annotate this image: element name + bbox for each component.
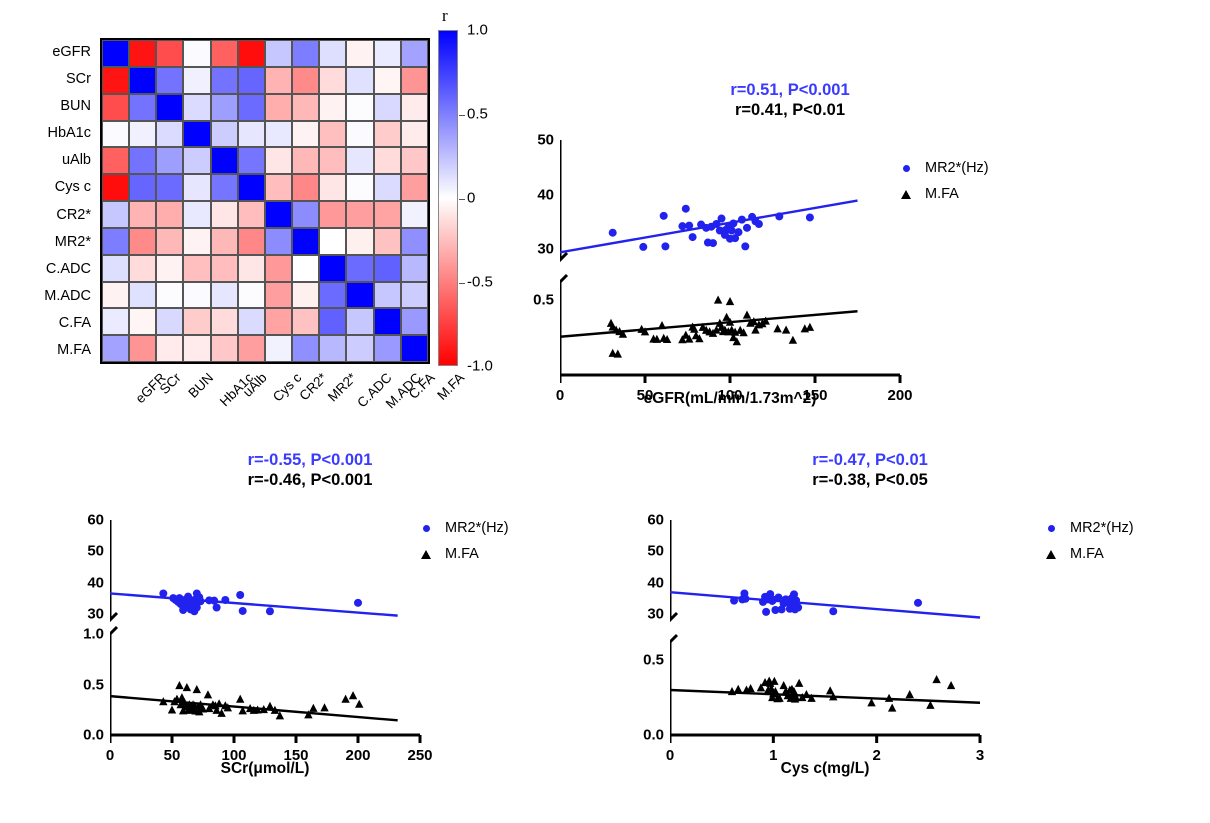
- heatmap-cell: [346, 228, 373, 255]
- heatmap-cell: [129, 147, 156, 174]
- colorbar-tick-label: 0.5: [467, 106, 488, 123]
- colorbar-tick-label: 0: [467, 190, 475, 207]
- heatmap-cell: [211, 255, 238, 282]
- scatter-cysc-xaxis-title: Cys c(mg/L): [781, 760, 870, 778]
- heatmap-cell: [319, 308, 346, 335]
- colorbar-gradient: [438, 30, 458, 366]
- heatmap-cell: [319, 147, 346, 174]
- heatmap-cell: [292, 121, 319, 148]
- heatmap-cell: [401, 121, 428, 148]
- heatmap-cell: [319, 335, 346, 362]
- heatmap-cell: [211, 308, 238, 335]
- data-point-circle: [794, 604, 802, 612]
- heatmap-cell: [346, 147, 373, 174]
- colorbar-tick: [459, 199, 465, 200]
- data-point-circle: [159, 589, 167, 597]
- heatmap-cell: [211, 282, 238, 309]
- data-point-circle: [236, 591, 244, 599]
- data-point-circle: [661, 242, 669, 250]
- data-point-triangle: [309, 704, 317, 712]
- heatmap-cell: [102, 94, 129, 121]
- heatmap-row-label: M.ADC: [0, 283, 96, 310]
- data-point-circle: [609, 229, 617, 237]
- data-point-circle: [718, 215, 726, 223]
- y-tick-label: 40: [618, 574, 664, 591]
- heatmap-cell: [156, 94, 183, 121]
- heatmap-cell: [319, 174, 346, 201]
- heatmap-cell: [183, 174, 210, 201]
- data-point-triangle: [782, 326, 790, 334]
- y-tick-label: 60: [58, 512, 104, 529]
- heatmap-cell: [156, 121, 183, 148]
- data-point-circle: [829, 607, 837, 615]
- heatmap-cell: [156, 40, 183, 67]
- heatmap-row-label: SCr: [0, 65, 96, 92]
- heatmap-cell: [292, 67, 319, 94]
- heatmap-cell: [129, 201, 156, 228]
- heatmap-cell: [183, 94, 210, 121]
- data-point-triangle: [779, 681, 787, 689]
- heatmap-cell: [401, 174, 428, 201]
- heatmap-cell: [374, 335, 401, 362]
- heatmap-cell: [292, 335, 319, 362]
- heatmap-cell: [319, 228, 346, 255]
- scatter-cysc-plot-area: 304050600.00.50123: [670, 520, 980, 735]
- heatmap-cell: [183, 255, 210, 282]
- data-point-circle: [806, 213, 814, 221]
- legend-label: M.FA: [1070, 546, 1104, 562]
- plot-scr-svg: [110, 520, 460, 745]
- heatmap-cell: [183, 228, 210, 255]
- scatter-egfr-legend: MR2*(Hz)M.FA: [895, 155, 989, 207]
- heatmap-cell: [156, 67, 183, 94]
- heatmap-cell: [156, 255, 183, 282]
- legend-triangle-icon: [415, 550, 437, 559]
- heatmap-cell: [265, 174, 292, 201]
- heatmap-cell: [183, 121, 210, 148]
- scatter-cysc-title-black: r=-0.38, P<0.05: [710, 470, 1030, 490]
- heatmap-cell: [211, 335, 238, 362]
- legend-label: M.FA: [925, 186, 959, 202]
- heatmap-row-label: HbA1c: [0, 120, 96, 147]
- heatmap-cell: [292, 147, 319, 174]
- x-tick-label: 50: [164, 747, 181, 764]
- data-point-triangle: [773, 324, 781, 332]
- heatmap-cell: [238, 94, 265, 121]
- heatmap-cell: [102, 67, 129, 94]
- heatmap-cell: [238, 121, 265, 148]
- heatmap-cell: [401, 282, 428, 309]
- heatmap-panel: eGFRSCrBUNHbA1cuAlbCys cCR2*MR2*C.ADCM.A…: [0, 0, 500, 430]
- heatmap-cell: [129, 335, 156, 362]
- y-tick-label: 30: [508, 241, 554, 258]
- heatmap-cell: [292, 255, 319, 282]
- data-point-triangle: [906, 690, 914, 698]
- heatmap-cell: [211, 121, 238, 148]
- heatmap-cell: [238, 201, 265, 228]
- heatmap-column-label: CR2*: [296, 370, 329, 403]
- scatter-egfr-xaxis-title: eGFR(mL/min/1.73m^2): [644, 390, 817, 408]
- heatmap-cell: [374, 308, 401, 335]
- heatmap-cell: [238, 335, 265, 362]
- heatmap-cell: [238, 174, 265, 201]
- heatmap-cell: [156, 282, 183, 309]
- data-point-circle: [213, 604, 221, 612]
- data-point-circle: [682, 205, 690, 213]
- scatter-egfr-title-blue: r=0.51, P<0.001: [630, 80, 950, 100]
- heatmap-cell: [319, 201, 346, 228]
- heatmap-cell: [211, 228, 238, 255]
- heatmap-cell: [265, 67, 292, 94]
- heatmap-cell: [129, 308, 156, 335]
- heatmap-cell: [102, 282, 129, 309]
- x-tick-label: 0: [556, 387, 564, 404]
- heatmap-cell: [102, 308, 129, 335]
- heatmap-cell: [265, 335, 292, 362]
- data-point-circle: [728, 227, 736, 235]
- heatmap-cell: [374, 228, 401, 255]
- data-point-triangle: [236, 695, 244, 703]
- scatter-cysc-title-blue: r=-0.47, P<0.01: [710, 450, 1030, 470]
- heatmap-cell: [156, 201, 183, 228]
- plot-cysc-svg: [670, 520, 1020, 745]
- x-tick-label: 200: [345, 747, 370, 764]
- heatmap-cell: [346, 308, 373, 335]
- legend-circle-icon: [1040, 525, 1062, 532]
- legend-item: M.FA: [895, 181, 989, 207]
- heatmap-cell: [292, 228, 319, 255]
- heatmap-cell: [319, 121, 346, 148]
- y-tick-label: 40: [58, 574, 104, 591]
- heatmap-cell: [265, 255, 292, 282]
- colorbar-tick-label: -0.5: [467, 274, 493, 291]
- heatmap-cell: [102, 335, 129, 362]
- x-tick-label: 1: [769, 747, 777, 764]
- data-point-circle: [354, 599, 362, 607]
- heatmap-cell: [183, 335, 210, 362]
- heatmap-cell: [346, 40, 373, 67]
- scatter-scr-xaxis-title: SCr(μmol/L): [221, 760, 310, 778]
- x-tick-label: 0: [106, 747, 114, 764]
- heatmap-cell: [346, 201, 373, 228]
- data-point-triangle: [341, 695, 349, 703]
- data-point-circle: [730, 597, 738, 605]
- heatmap-cell: [211, 147, 238, 174]
- x-tick-label: 3: [976, 747, 984, 764]
- heatmap-cell: [346, 282, 373, 309]
- colorbar-title: r: [442, 6, 448, 26]
- legend-item: M.FA: [415, 541, 509, 567]
- heatmap-cell: [346, 67, 373, 94]
- data-point-circle: [914, 599, 922, 607]
- legend-triangle-icon: [895, 190, 917, 199]
- data-point-circle: [741, 595, 749, 603]
- data-point-circle: [639, 243, 647, 251]
- heatmap-cell: [129, 94, 156, 121]
- legend-item: MR2*(Hz): [895, 155, 989, 181]
- heatmap-colorbar: r 1.00.50-0.5-1.0: [438, 30, 496, 370]
- heatmap-cell: [401, 201, 428, 228]
- colorbar-tick: [459, 283, 465, 284]
- heatmap-cell: [374, 67, 401, 94]
- scatter-scr-legend: MR2*(Hz)M.FA: [415, 515, 509, 567]
- scatter-cysc-title: r=-0.47, P<0.01 r=-0.38, P<0.05: [710, 450, 1030, 490]
- scatter-panel-egfr: r=0.51, P<0.001 r=0.41, P<0.01 3040500.5…: [500, 80, 1200, 420]
- data-point-circle: [729, 219, 737, 227]
- heatmap-cell: [156, 228, 183, 255]
- heatmap-cell: [129, 67, 156, 94]
- heatmap-cell: [401, 40, 428, 67]
- heatmap-row-label: uAlb: [0, 147, 96, 174]
- heatmap-cell: [238, 282, 265, 309]
- y-tick-label: 50: [58, 543, 104, 560]
- heatmap-cell: [401, 308, 428, 335]
- heatmap-cell: [211, 94, 238, 121]
- heatmap-cell: [156, 147, 183, 174]
- heatmap-cell: [265, 121, 292, 148]
- scatter-panel-cysc: r=-0.47, P<0.01 r=-0.38, P<0.05 30405060…: [590, 450, 1200, 810]
- y-tick-label: 1.0: [58, 626, 104, 643]
- x-tick-label: 0: [666, 747, 674, 764]
- heatmap-cell: [319, 40, 346, 67]
- heatmap-cell: [129, 174, 156, 201]
- data-point-triangle: [658, 321, 666, 329]
- heatmap-cell: [156, 335, 183, 362]
- heatmap-cell: [129, 40, 156, 67]
- heatmap-cell: [292, 201, 319, 228]
- heatmap-row-label: C.FA: [0, 310, 96, 337]
- heatmap-cell: [102, 121, 129, 148]
- data-point-circle: [685, 222, 693, 230]
- y-tick-label: 0.5: [508, 292, 554, 309]
- legend-circle-icon: [895, 165, 917, 172]
- heatmap-cell: [401, 228, 428, 255]
- data-point-circle: [755, 220, 763, 228]
- heatmap-cell: [346, 121, 373, 148]
- heatmap-cell: [211, 40, 238, 67]
- y-tick-label: 0.5: [618, 652, 664, 669]
- legend-item: M.FA: [1040, 541, 1134, 567]
- heatmap-cell: [374, 255, 401, 282]
- heatmap-row-label: BUN: [0, 92, 96, 119]
- data-point-triangle: [175, 681, 183, 689]
- heatmap-row-label: eGFR: [0, 38, 96, 65]
- heatmap-cell: [401, 147, 428, 174]
- y-tick-label: 50: [618, 543, 664, 560]
- heatmap-cell: [346, 335, 373, 362]
- heatmap-cell: [292, 94, 319, 121]
- colorbar-tick: [459, 115, 465, 116]
- heatmap-cell: [102, 40, 129, 67]
- heatmap-cell: [319, 282, 346, 309]
- legend-label: MR2*(Hz): [925, 160, 989, 176]
- data-point-triangle: [204, 690, 212, 698]
- y-tick-label: 40: [508, 186, 554, 203]
- heatmap-cell: [211, 67, 238, 94]
- heatmap-cell: [238, 228, 265, 255]
- data-point-circle: [197, 597, 205, 605]
- heatmap-cell: [102, 147, 129, 174]
- heatmap-cell: [129, 228, 156, 255]
- heatmap-cell: [211, 174, 238, 201]
- y-tick-label: 60: [618, 512, 664, 529]
- heatmap-grid: [100, 38, 430, 364]
- heatmap-column-label: BUN: [185, 370, 216, 401]
- scatter-scr-title-blue: r=-0.55, P<0.001: [150, 450, 470, 470]
- scatter-scr-title: r=-0.55, P<0.001 r=-0.46, P<0.001: [150, 450, 470, 490]
- data-point-triangle: [734, 685, 742, 693]
- x-tick-label: 2: [872, 747, 880, 764]
- legend-label: MR2*(Hz): [1070, 520, 1134, 536]
- heatmap-cell: [102, 228, 129, 255]
- heatmap-cell: [319, 67, 346, 94]
- legend-triangle-icon: [1040, 550, 1062, 559]
- colorbar-tick-label: 1.0: [467, 22, 488, 39]
- data-point-circle: [762, 608, 770, 616]
- heatmap-cell: [129, 121, 156, 148]
- scatter-panel-scr: r=-0.55, P<0.001 r=-0.46, P<0.001 304050…: [30, 450, 590, 810]
- heatmap-cell: [156, 174, 183, 201]
- heatmap-cell: [183, 40, 210, 67]
- heatmap-cell: [102, 174, 129, 201]
- data-point-triangle: [932, 675, 940, 683]
- heatmap-cell: [374, 121, 401, 148]
- heatmap-cell: [346, 174, 373, 201]
- heatmap-cell: [238, 67, 265, 94]
- heatmap-cell: [319, 94, 346, 121]
- legend-item: MR2*(Hz): [415, 515, 509, 541]
- heatmap-row-labels: eGFRSCrBUNHbA1cuAlbCys cCR2*MR2*C.ADCM.A…: [0, 38, 96, 364]
- data-point-circle: [709, 239, 717, 247]
- scatter-egfr-plot-area: 3040500.5050100150200: [560, 140, 900, 375]
- data-point-triangle: [183, 683, 191, 691]
- data-point-triangle: [320, 703, 328, 711]
- data-point-triangle: [714, 296, 722, 304]
- heatmap-cell: [374, 40, 401, 67]
- heatmap-cell: [238, 147, 265, 174]
- heatmap-cell: [102, 255, 129, 282]
- data-point-triangle: [802, 690, 810, 698]
- data-point-triangle: [349, 691, 357, 699]
- heatmap-cell: [183, 308, 210, 335]
- data-point-triangle: [743, 311, 751, 319]
- data-point-circle: [738, 216, 746, 224]
- heatmap-cell: [183, 201, 210, 228]
- data-point-triangle: [795, 679, 803, 687]
- data-point-circle: [210, 597, 218, 605]
- data-point-circle: [775, 212, 783, 220]
- data-point-circle: [792, 596, 800, 604]
- data-point-triangle: [947, 681, 955, 689]
- scatter-scr-title-black: r=-0.46, P<0.001: [150, 470, 470, 490]
- heatmap-cell: [265, 40, 292, 67]
- heatmap-cell: [346, 255, 373, 282]
- legend-item: MR2*(Hz): [1040, 515, 1134, 541]
- data-point-circle: [266, 607, 274, 615]
- heatmap-cell: [346, 94, 373, 121]
- data-point-triangle: [168, 705, 176, 713]
- y-tick-label: 0.0: [618, 727, 664, 744]
- data-point-circle: [741, 242, 749, 250]
- heatmap-cell: [156, 308, 183, 335]
- heatmap-cell: [292, 282, 319, 309]
- data-point-circle: [660, 212, 668, 220]
- y-tick-label: 30: [58, 605, 104, 622]
- legend-circle-icon: [415, 525, 437, 532]
- heatmap-row-label: Cys c: [0, 174, 96, 201]
- y-tick-label: 50: [508, 132, 554, 149]
- heatmap-cell: [265, 147, 292, 174]
- data-point-circle: [678, 222, 686, 230]
- heatmap-cell: [292, 174, 319, 201]
- scatter-scr-plot-area: 304050600.00.51.0050100150200250: [110, 520, 420, 735]
- y-tick-label: 0.5: [58, 676, 104, 693]
- heatmap-row-label: M.FA: [0, 337, 96, 364]
- heatmap-cell: [183, 147, 210, 174]
- y-tick-label: 0.0: [58, 727, 104, 744]
- heatmap-cell: [183, 282, 210, 309]
- heatmap-cell: [238, 40, 265, 67]
- heatmap-cell: [374, 174, 401, 201]
- scatter-egfr-title: r=0.51, P<0.001 r=0.41, P<0.01: [630, 80, 950, 120]
- data-point-circle: [735, 228, 743, 236]
- heatmap-column-label: Cys c: [269, 370, 303, 404]
- heatmap-cell: [102, 201, 129, 228]
- heatmap-cell: [129, 255, 156, 282]
- legend-label: MR2*(Hz): [445, 520, 509, 536]
- plot-egfr-svg: [560, 140, 940, 385]
- heatmap-row-label: C.ADC: [0, 255, 96, 282]
- data-point-triangle: [355, 700, 363, 708]
- heatmap-cell: [265, 282, 292, 309]
- heatmap-row-label: MR2*: [0, 228, 96, 255]
- heatmap-cell: [319, 255, 346, 282]
- data-point-circle: [239, 607, 247, 615]
- heatmap-cell: [265, 228, 292, 255]
- heatmap-cell: [401, 255, 428, 282]
- data-point-triangle: [266, 702, 274, 710]
- scatter-egfr-title-black: r=0.41, P<0.01: [630, 100, 950, 120]
- heatmap-cell: [238, 308, 265, 335]
- heatmap-cell: [265, 94, 292, 121]
- heatmap-cell: [265, 308, 292, 335]
- data-point-triangle: [789, 336, 797, 344]
- x-tick-label: 250: [407, 747, 432, 764]
- data-point-circle: [743, 224, 751, 232]
- heatmap-cell: [374, 94, 401, 121]
- heatmap-cell: [211, 201, 238, 228]
- scatter-cysc-legend: MR2*(Hz)M.FA: [1040, 515, 1134, 567]
- y-tick-label: 30: [618, 605, 664, 622]
- legend-label: M.FA: [445, 546, 479, 562]
- heatmap-cell: [374, 201, 401, 228]
- heatmap-column-label: M.FA: [434, 370, 467, 403]
- colorbar-tick-label: -1.0: [467, 358, 493, 375]
- data-point-triangle: [888, 704, 896, 712]
- heatmap-cell: [401, 67, 428, 94]
- heatmap-cell: [238, 255, 265, 282]
- data-point-circle: [689, 233, 697, 241]
- data-point-triangle: [806, 323, 814, 331]
- x-tick-label: 200: [887, 387, 912, 404]
- heatmap-cell: [129, 282, 156, 309]
- heatmap-cell: [292, 308, 319, 335]
- heatmap-column-labels: eGFRSCrBUNHbA1cuAlbCys cCR2*MR2*C.ADCM.A…: [100, 366, 430, 424]
- heatmap-cell: [401, 94, 428, 121]
- heatmap-cell: [374, 147, 401, 174]
- heatmap-cell: [374, 282, 401, 309]
- heatmap-cell: [292, 40, 319, 67]
